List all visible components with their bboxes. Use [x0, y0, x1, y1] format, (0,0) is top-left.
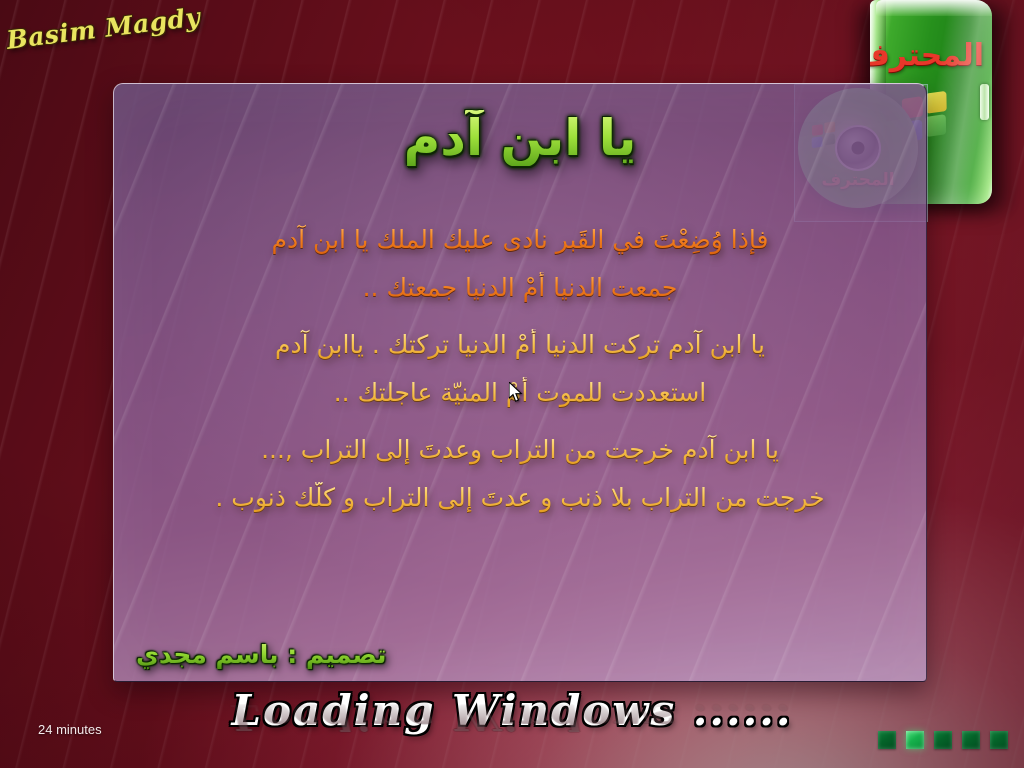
verse-line: جمعت الدنيا أمْ الدنيا جمعتك ..	[142, 272, 898, 304]
message-panel: يا ابن آدم فإذا وُضِعْتَ في القَبر نادى …	[113, 83, 927, 682]
progress-indicator	[878, 731, 1008, 749]
verse-list: فإذا وُضِعْتَ في القَبر نادى عليك الملك …	[142, 224, 898, 529]
box-clasp	[980, 84, 989, 120]
verse-line: فإذا وُضِعْتَ في القَبر نادى عليك الملك …	[142, 224, 898, 256]
verse-line: يا ابن آدم خرجت من التراب وعدتَ إلى التر…	[142, 434, 898, 466]
progress-block	[878, 731, 896, 749]
verse-line: استعددت للموت أمْ المنيّة عاجلتك ..	[142, 377, 898, 409]
time-remaining-label: 24 minutes	[38, 722, 102, 737]
progress-block	[934, 731, 952, 749]
progress-block	[906, 731, 924, 749]
designer-credit: تصميم : باسم مجدي	[136, 640, 387, 669]
progress-block	[990, 731, 1008, 749]
boot-splash-screen: Basim Magdy المحترف	[0, 0, 1024, 768]
page-title: يا ابن آدم	[114, 110, 926, 166]
verse-line: يا ابن آدم تركت الدنيا أمْ الدنيا تركتك …	[142, 329, 898, 361]
verse-line: خرجت من التراب بلا ذنب و عدتَ إلى التراب…	[142, 482, 898, 514]
progress-block	[962, 731, 980, 749]
